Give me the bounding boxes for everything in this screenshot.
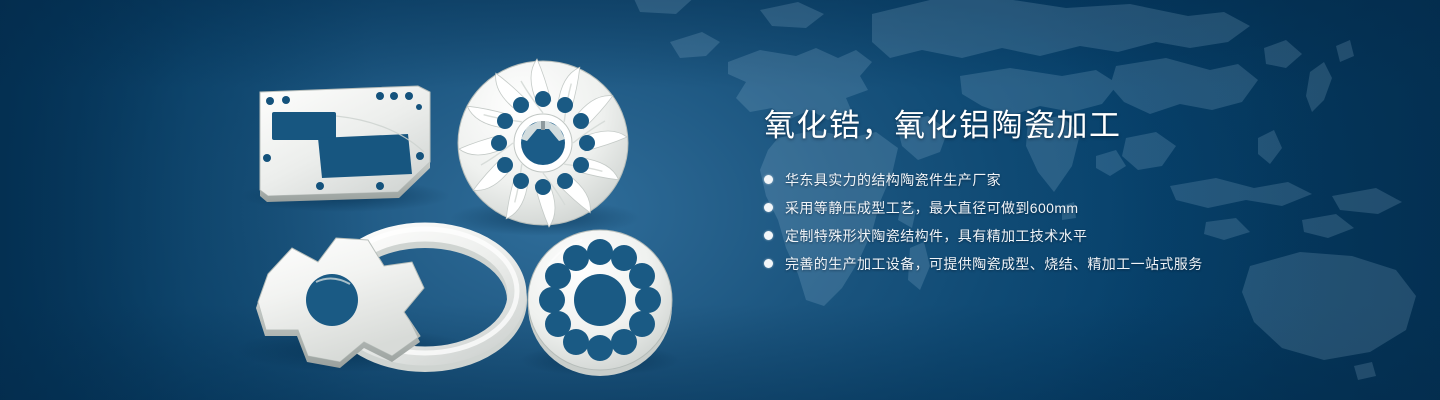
banner-feature-list: 华东具实力的结构陶瓷件生产厂家 采用等静压成型工艺，最大直径可做到600mm 定… [764,170,1384,274]
banner-headline: 氧化锆，氧化铝陶瓷加工 [764,104,1384,148]
feature-item: 华东具实力的结构陶瓷件生产厂家 [764,170,1384,190]
feature-item: 完善的生产加工设备，可提供陶瓷成型、烧结、精加工一站式服务 [764,254,1384,274]
feature-item-label: 定制特殊形状陶瓷结构件，具有精加工技术水平 [785,226,1087,246]
feature-item-label: 采用等静压成型工艺，最大直径可做到600mm [785,198,1078,218]
feature-item: 采用等静压成型工艺，最大直径可做到600mm [764,198,1384,218]
bullet-dot-icon [764,175,773,184]
product-photo-cluster [0,0,720,400]
ceramic-holed-disc-part [528,230,672,376]
bullet-dot-icon [764,259,773,268]
ceramic-impeller-part [458,59,628,227]
feature-item-label: 完善的生产加工设备，可提供陶瓷成型、烧结、精加工一站式服务 [785,254,1203,274]
feature-item-label: 华东具实力的结构陶瓷件生产厂家 [785,170,1001,190]
banner-copy: 氧化锆，氧化铝陶瓷加工 华东具实力的结构陶瓷件生产厂家 采用等静压成型工艺，最大… [764,104,1384,282]
ceramic-plate-part [260,86,430,202]
bullet-dot-icon [764,231,773,240]
bullet-dot-icon [764,203,773,212]
hero-banner: 氧化锆，氧化铝陶瓷加工 华东具实力的结构陶瓷件生产厂家 采用等静压成型工艺，最大… [0,0,1440,400]
feature-item: 定制特殊形状陶瓷结构件，具有精加工技术水平 [764,226,1384,246]
